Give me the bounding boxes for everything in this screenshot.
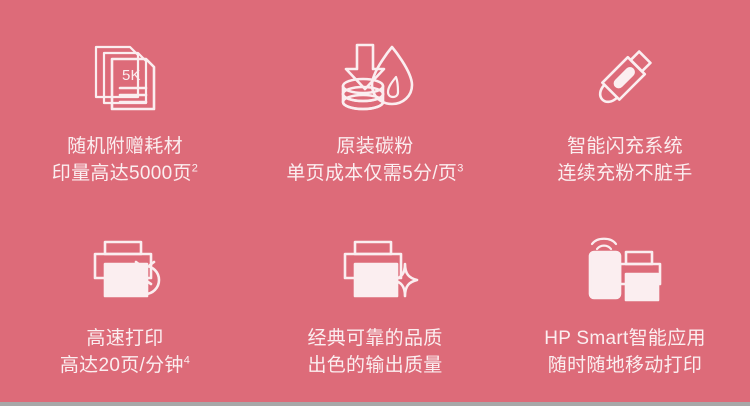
- feature-line-2-text: 高达20页/分钟: [60, 355, 184, 376]
- feature-banner: 5K 随机附赠耗材 印量高达5000页2: [0, 0, 750, 402]
- feature-footnote: 3: [457, 163, 463, 175]
- feature-caption: 随机附赠耗材 印量高达5000页2: [52, 134, 198, 188]
- feature-cell-quality: 经典可靠的品质 出色的输出质量: [250, 200, 500, 402]
- refill-syringe-icon: [583, 36, 667, 118]
- feature-caption: 原装碳粉 单页成本仅需5分/页3: [286, 134, 463, 188]
- feature-line-2-text: 单页成本仅需5分/页: [286, 163, 457, 184]
- feature-cell-speed: 高速打印 高达20页/分钟4: [0, 200, 250, 402]
- feature-caption: 智能闪充系统 连续充粉不脏手: [557, 134, 692, 188]
- svg-text:5K: 5K: [122, 67, 141, 84]
- feature-line-1: 经典可靠的品质: [307, 326, 442, 353]
- feature-footnote: 2: [192, 163, 198, 175]
- feature-line-2-text: 连续充粉不脏手: [557, 163, 692, 184]
- feature-line-1: 高速打印: [60, 326, 190, 353]
- feature-line-2: 高达20页/分钟4: [60, 353, 190, 380]
- phone-wifi-printer-icon: [582, 228, 668, 310]
- feature-line-2-text: 随时随地移动打印: [548, 355, 702, 376]
- feature-line-2: 连续充粉不脏手: [557, 161, 692, 188]
- feature-line-2: 单页成本仅需5分/页3: [286, 161, 463, 188]
- feature-line-2-text: 印量高达5000页: [52, 163, 192, 184]
- toner-drop-coins-icon: [332, 36, 418, 118]
- feature-cell-mobile: HP Smart智能应用 随时随地移动打印: [500, 200, 750, 402]
- feature-line-2: 印量高达5000页2: [52, 161, 198, 188]
- feature-caption: 高速打印 高达20页/分钟4: [60, 326, 190, 380]
- feature-line-1: 原装碳粉: [286, 134, 463, 161]
- feature-line-2: 随时随地移动打印: [544, 353, 706, 380]
- printer-sparkle-icon: [333, 228, 417, 310]
- feature-line-1: 智能闪充系统: [557, 134, 692, 161]
- feature-footnote: 4: [184, 355, 190, 367]
- feature-line-2: 出色的输出质量: [307, 353, 442, 380]
- feature-line-1: 随机附赠耗材: [52, 134, 198, 161]
- printer-clock-icon: [83, 228, 167, 310]
- feature-caption: 经典可靠的品质 出色的输出质量: [307, 326, 442, 380]
- feature-cell-toner: 原装碳粉 单页成本仅需5分/页3: [250, 0, 500, 200]
- feature-cell-refill: 智能闪充系统 连续充粉不脏手: [500, 0, 750, 200]
- stacked-pages-5k-icon: 5K: [86, 36, 164, 118]
- feature-cell-supplies: 5K 随机附赠耗材 印量高达5000页2: [0, 0, 250, 200]
- feature-line-2-text: 出色的输出质量: [307, 355, 442, 376]
- feature-line-1: HP Smart智能应用: [544, 326, 706, 353]
- bottom-edge-band: [0, 402, 750, 406]
- feature-grid: 5K 随机附赠耗材 印量高达5000页2: [0, 0, 750, 402]
- feature-caption: HP Smart智能应用 随时随地移动打印: [544, 326, 706, 380]
